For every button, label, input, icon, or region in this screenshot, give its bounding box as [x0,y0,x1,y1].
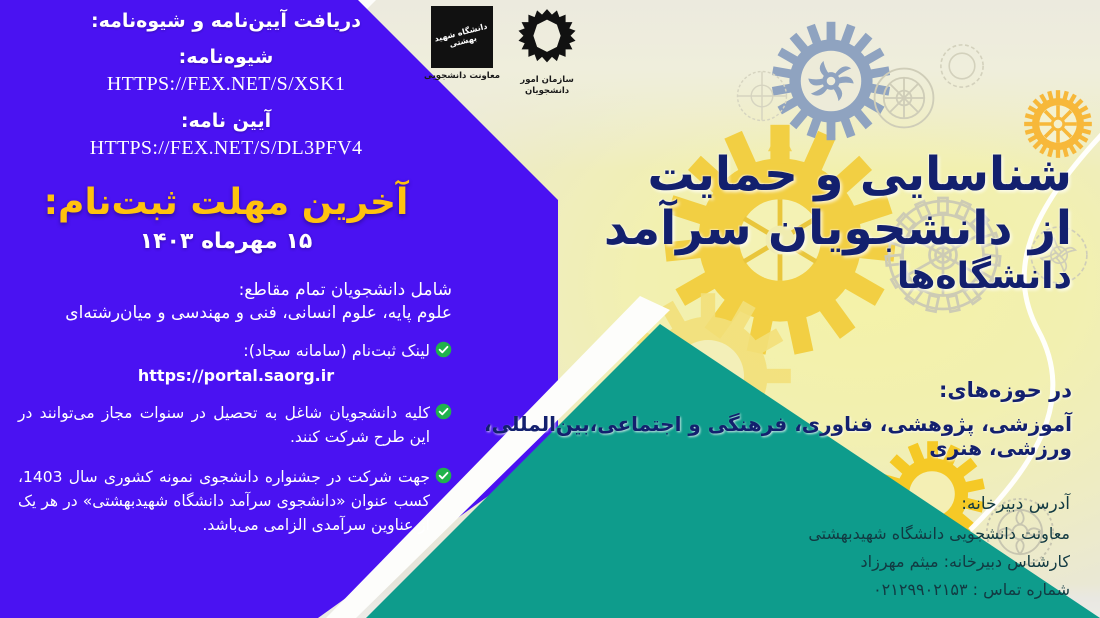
poster-title: شناسایی و حمایت از دانشجویان سرآمد دانشگ… [512,150,1072,296]
check-circle-icon [435,403,452,420]
purple-panel-content: دریافت آیین‌نامه و شیوه‌نامه: شیوه‌نامه:… [0,0,452,537]
bullet-item-festival: جهت شرکت در جشنواره دانشجوی نمونه کشوری … [0,465,452,537]
university-mark-text: دانشگاه شهید بهشتی [432,21,493,53]
logo-row: دانشگاه شهید بهشتی معاونت دانشجویی سازما… [424,6,660,114]
bullet-text-3: جهت شرکت در جشنواره دانشجوی نمونه کشوری … [18,465,430,537]
fields-heading: در حوزه‌های: [472,378,1072,402]
secretariat-heading: آدرس دبیرخانه: [630,490,1070,520]
title-line-2: از دانشجویان سرآمد [512,204,1072,254]
fields-section: در حوزه‌های: آموزشی، پژوهشی، فناوری، فره… [472,378,1072,460]
title-line-3: دانشگاه‌ها [512,258,1072,296]
secretariat-line-2: کارشناس دبیرخانه: میثم مهرزاد [630,548,1070,576]
method-label: شیوه‌نامه: [0,46,452,68]
regulation-label: آیین نامه: [0,110,452,132]
poster-root: دانشگاه شهید بهشتی معاونت دانشجویی سازما… [0,0,1100,618]
registration-portal-link[interactable]: https://portal.saorg.ir [0,366,452,385]
bullet-item-eligibility: کلیه دانشجویان شاغل به تحصیل در سنوات مج… [0,401,452,449]
eligibility-heading: شامل دانشجویان تمام مقاطع: [0,280,452,300]
organization-logo-caption: سازمان امور دانشجویان [514,75,580,96]
downloads-heading: دریافت آیین‌نامه و شیوه‌نامه: [0,10,452,32]
organization-logo: سازمان امور دانشجویان [514,6,580,96]
eligibility-subheading: علوم پایه، علوم انسانی، فنی و مهندسی و م… [0,303,452,323]
organization-caption-line2: دانشجویان [514,86,580,97]
bullet-text-2: کلیه دانشجویان شاغل به تحصیل در سنوات مج… [18,401,430,449]
organization-caption-line1: سازمان امور [514,75,580,86]
method-url[interactable]: HTTPS://FEX.NET/S/XSK1 [0,73,452,96]
university-logo: دانشگاه شهید بهشتی معاونت دانشجویی [424,6,500,82]
check-circle-icon [435,341,452,358]
student-affairs-organization-mark-icon [514,6,580,68]
regulation-url[interactable]: HTTPS://FEX.NET/S/DL3PFV4 [0,137,452,160]
university-logo-caption: معاونت دانشجویی [424,71,500,82]
deadline-title: آخرین مهلت ثبت‌نام: [0,182,452,223]
bullet-item-registration-link: لینک ثبت‌نام (سامانه سجاد): [0,339,452,364]
shahid-beheshti-university-mark-icon: دانشگاه شهید بهشتی [431,6,493,68]
gear-icon-outline-c [726,60,798,132]
secretariat-line-1: معاونت دانشجویی دانشگاه شهیدبهشتی [630,520,1070,548]
secretariat-block: آدرس دبیرخانه: معاونت دانشجویی دانشگاه ش… [630,490,1070,604]
secretariat-telephone: شماره تماس : ۰۲۱۲۹۹۰۲۱۵۳ [630,576,1070,604]
bullet-text-1: لینک ثبت‌نام (سامانه سجاد): [243,339,430,364]
fields-list: آموزشی، پژوهشی، فناوری، فرهنگی و اجتماعی… [472,412,1072,460]
gear-icon-outline-b [930,34,994,98]
title-line-1: شناسایی و حمایت [512,150,1072,200]
deadline-date: ۱۵ مهرماه ۱۴۰۳ [0,229,452,254]
check-circle-icon [435,467,452,484]
